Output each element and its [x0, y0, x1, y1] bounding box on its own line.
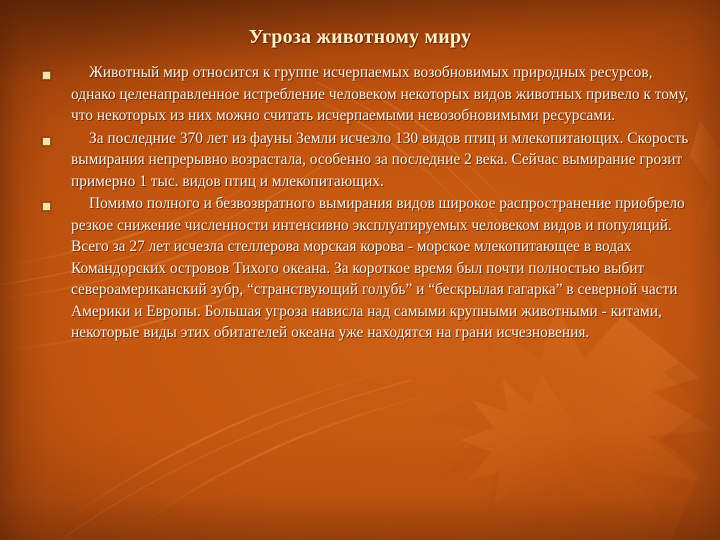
bullet-text: Животный мир относится к группе исчерпае…	[71, 62, 700, 127]
square-bullet-icon	[42, 202, 51, 211]
square-bullet-icon	[42, 137, 51, 146]
square-bullet-icon	[42, 71, 51, 80]
presentation-slide: Угроза животному миру Животный мир относ…	[0, 0, 720, 540]
bullet-item: За последние 370 лет из фауны Земли исче…	[36, 128, 700, 193]
slide-body: Животный мир относится к группе исчерпае…	[36, 62, 700, 345]
bullet-text: За последние 370 лет из фауны Земли исче…	[71, 128, 700, 193]
bullet-text: Помимо полного и безвозвратного вымирани…	[71, 193, 700, 344]
bullet-item: Животный мир относится к группе исчерпае…	[36, 62, 700, 127]
bullet-item: Помимо полного и безвозвратного вымирани…	[36, 193, 700, 344]
slide-title: Угроза животному миру	[0, 26, 720, 49]
slide-content: Угроза животному миру Животный мир относ…	[0, 0, 720, 540]
